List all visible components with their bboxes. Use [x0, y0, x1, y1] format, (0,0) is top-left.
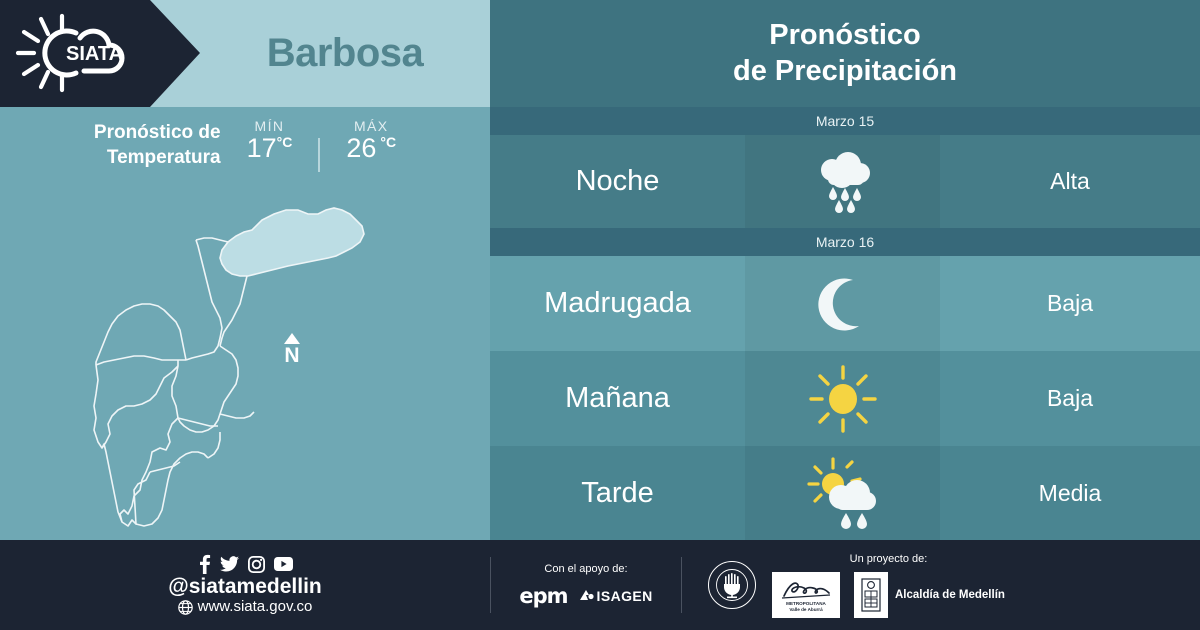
isagen-wordmark: ISAGEN	[597, 588, 653, 604]
sun-icon	[806, 362, 880, 436]
temperature-min-unit: °C	[277, 134, 293, 150]
temperature-title: Pronóstico de Temperatura	[94, 118, 221, 170]
sun-cloud-icon: SIATA	[14, 13, 134, 93]
facebook-icon[interactable]	[198, 554, 211, 574]
isagen-logo: ISAGEN	[580, 588, 653, 604]
project-right: Un proyecto de: METROPOLITANA Valle de A…	[772, 553, 1005, 618]
support-block: Con el apoyo de: epm ISAGEN	[491, 563, 681, 608]
isagen-mark-icon	[580, 589, 594, 602]
epm-logo: epm	[519, 584, 567, 608]
forecast-row-tarde: Tarde	[490, 446, 1200, 540]
weather-icon-cell-noche	[745, 135, 940, 228]
temperature-min: MÍN 17°C	[247, 118, 293, 163]
project-caption: Un proyecto de:	[850, 553, 928, 565]
project-block: Un proyecto de: METROPOLITANA Valle de A…	[682, 553, 1200, 618]
alcaldia-logo: Alcaldía de Medellín	[854, 572, 1005, 618]
date-label-marzo-16: Marzo 16	[490, 228, 1200, 256]
medellin-coat-of-arms-icon	[860, 577, 882, 613]
temperature-divider	[318, 138, 320, 172]
social-icons	[198, 554, 293, 574]
precipitation-level-noche: Alta	[940, 135, 1200, 228]
temperature-max-unit: °C	[380, 134, 396, 150]
temperature-title-line2: Temperatura	[94, 145, 221, 170]
alcaldia-label: Alcaldía de Medellín	[895, 589, 1005, 601]
footer: @siatamedellin www.siata.gov.co Con el a…	[0, 540, 1200, 630]
website-url: www.siata.gov.co	[198, 599, 313, 616]
temperature-max-label: MÁX	[346, 118, 396, 134]
sun-cloud-rain-icon	[805, 455, 881, 531]
weather-icon-cell-manana	[745, 351, 940, 446]
precipitation-panel: Pronóstico de Precipitación Marzo 15 Noc…	[490, 0, 1200, 540]
period-label-tarde: Tarde	[490, 446, 745, 540]
temperature-max-value: 26	[346, 133, 376, 163]
social-handle[interactable]: @siatamedellin	[168, 575, 322, 599]
universidad-de-antioquia-seal	[708, 561, 756, 609]
weather-icon-cell-madrugada	[745, 256, 940, 351]
globe-icon	[178, 600, 193, 615]
page-title: Barbosa	[200, 0, 490, 107]
temperature-min-value: 17	[247, 133, 277, 163]
instagram-icon[interactable]	[248, 556, 265, 573]
period-label-manana: Mañana	[490, 351, 745, 446]
temperature-max: MÁX 26°C	[346, 118, 396, 163]
municipality-barbosa	[220, 208, 364, 276]
period-label-madrugada: Madrugada	[490, 256, 745, 351]
temperature-min-value-wrap: 17°C	[247, 134, 293, 163]
udea-emblem-icon	[715, 568, 749, 602]
support-caption: Con el apoyo de:	[544, 563, 627, 575]
rain-cloud-icon	[806, 145, 880, 219]
precipitation-level-tarde: Media	[940, 446, 1200, 540]
precipitation-title: Pronóstico de Precipitación	[490, 0, 1200, 107]
youtube-icon[interactable]	[274, 557, 293, 571]
weather-icon-cell-tarde	[745, 446, 940, 540]
twitter-icon[interactable]	[220, 556, 239, 572]
date-label-marzo-15: Marzo 15	[490, 107, 1200, 135]
temperature-title-line1: Pronóstico de	[94, 120, 221, 145]
precipitation-title-line2: de Precipitación	[733, 54, 957, 89]
forecast-row-noche: Noche	[490, 135, 1200, 228]
temperature-min-label: MÍN	[247, 118, 293, 134]
precipitation-level-manana: Baja	[940, 351, 1200, 446]
forecast-row-manana: Mañana Baja	[490, 351, 1200, 446]
precipitation-level-madrugada: Baja	[940, 256, 1200, 351]
forecast-row-madrugada: Madrugada Baja	[490, 256, 1200, 351]
temperature-max-value-wrap: 26°C	[346, 134, 396, 163]
precipitation-title-line1: Pronóstico	[769, 18, 920, 53]
compass-north-label: N	[278, 345, 306, 366]
compass-rose: N	[278, 333, 306, 366]
website-row[interactable]: www.siata.gov.co	[178, 599, 313, 616]
social-block: @siatamedellin www.siata.gov.co	[0, 554, 490, 615]
project-logos: METROPOLITANA Valle de Aburrá	[772, 572, 1005, 618]
area-logo-sub2: Valle de Aburrá	[789, 607, 822, 613]
compass-needle-icon	[284, 333, 300, 344]
moon-icon	[809, 270, 877, 338]
weather-forecast-infographic: SIATA Barbosa Pronóstico de Temperatura …	[0, 0, 1200, 630]
aburra-valley-map	[0, 180, 490, 540]
temperature-summary: Pronóstico de Temperatura MÍN 17°C MÁX 2…	[0, 118, 490, 180]
svg-text:SIATA: SIATA	[66, 43, 123, 65]
support-logos: epm ISAGEN	[519, 584, 652, 608]
area-script-icon	[780, 577, 832, 601]
temperature-panel: SIATA Barbosa Pronóstico de Temperatura …	[0, 0, 490, 540]
alcaldia-shield-icon	[854, 572, 888, 618]
period-label-noche: Noche	[490, 135, 745, 228]
area-metropolitana-logo: METROPOLITANA Valle de Aburrá	[772, 572, 840, 618]
